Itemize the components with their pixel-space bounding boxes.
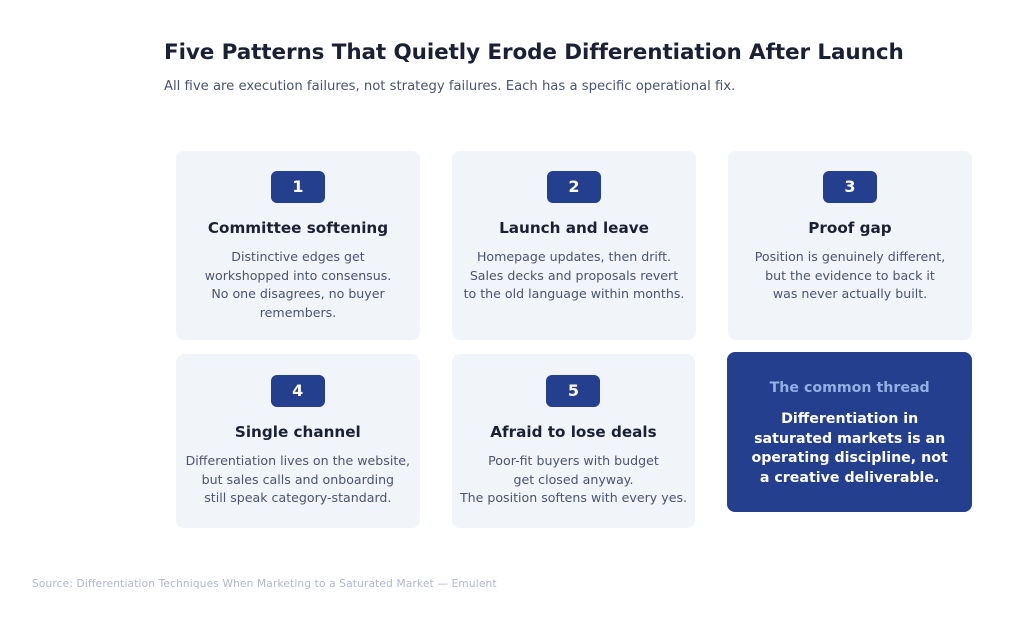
pattern-card-5[interactable]: 5 Afraid to lose deals Poor-fit buyers w… xyxy=(452,354,696,528)
pattern-card-2[interactable]: 2 Launch and leave Homepage updates, the… xyxy=(452,151,696,340)
pattern-card-title: Committee softening xyxy=(182,219,414,237)
pattern-card-title: Proof gap xyxy=(734,219,966,237)
pattern-card-1[interactable]: 1 Committee softening Distinctive edges … xyxy=(176,151,420,340)
pattern-number-badge: 1 xyxy=(271,171,325,203)
source-caption: Source: Differentiation Techniques When … xyxy=(32,578,497,590)
pattern-card-grid: 1 Committee softening Distinctive edges … xyxy=(176,151,972,528)
common-thread-text: Differentiation in saturated markets is … xyxy=(745,410,954,488)
common-thread-label: The common thread xyxy=(745,380,954,397)
pattern-card-body: Poor-fit buyers with budget get closed a… xyxy=(458,452,690,508)
page-title: Five Patterns That Quietly Erode Differe… xyxy=(164,40,964,67)
pattern-number-badge: 4 xyxy=(271,375,325,407)
pattern-number-badge: 5 xyxy=(546,375,600,407)
common-thread-card[interactable]: The common thread Differentiation in sat… xyxy=(727,352,972,512)
pattern-card-body: Homepage updates, then drift. Sales deck… xyxy=(458,248,690,304)
pattern-number-badge: 2 xyxy=(547,171,601,203)
pattern-card-3[interactable]: 3 Proof gap Position is genuinely differ… xyxy=(728,151,972,340)
pattern-card-title: Afraid to lose deals xyxy=(458,423,690,441)
header: Five Patterns That Quietly Erode Differe… xyxy=(164,40,964,95)
pattern-card-title: Single channel xyxy=(182,423,414,441)
card-row-1: 1 Committee softening Distinctive edges … xyxy=(176,151,972,340)
infographic-page: Five Patterns That Quietly Erode Differe… xyxy=(0,0,1024,625)
pattern-card-body: Distinctive edges get workshopped into c… xyxy=(182,248,414,322)
pattern-card-title: Launch and leave xyxy=(458,219,690,237)
page-subtitle: All five are execution failures, not str… xyxy=(164,67,964,95)
pattern-card-body: Differentiation lives on the website, bu… xyxy=(182,452,414,508)
card-row-2: 4 Single channel Differentiation lives o… xyxy=(176,354,972,528)
pattern-number-badge: 3 xyxy=(823,171,877,203)
pattern-card-body: Position is genuinely different, but the… xyxy=(734,248,966,304)
pattern-card-4[interactable]: 4 Single channel Differentiation lives o… xyxy=(176,354,420,528)
